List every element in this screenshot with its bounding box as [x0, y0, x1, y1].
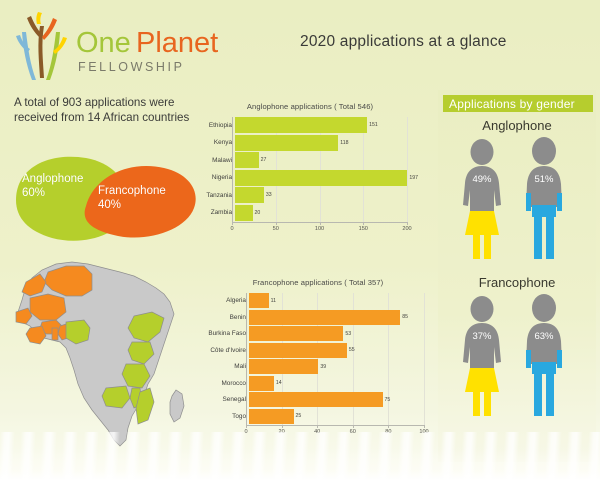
bar[interactable] [249, 376, 274, 391]
map-country-nigeria [66, 320, 90, 344]
gender-figures-anglophone: 49% 51% [438, 135, 596, 263]
x-axis-tick-label: 0 [230, 226, 233, 232]
bar-track: 53 [249, 326, 440, 341]
bar[interactable] [235, 152, 259, 168]
x-axis-line [246, 425, 424, 426]
gender-group-francophone: Francophone 37% [438, 275, 596, 420]
male-pct-anglophone: 51% [518, 174, 570, 185]
x-axis-tick-label: 200 [402, 226, 411, 232]
category-label: Burkina Faso [196, 330, 249, 337]
male-figure-francophone: 63% [518, 292, 570, 416]
x-axis-tick [232, 222, 233, 225]
gender-panel-header: Applications by gender [443, 95, 593, 112]
female-pct-anglophone: 49% [456, 174, 508, 185]
venn-anglophone-label: Anglophone 60% [22, 172, 83, 200]
africa-map [8, 250, 203, 465]
logo-tree-mark [16, 12, 67, 80]
bar-value-label: 151 [369, 122, 378, 128]
gender-group-francophone-label: Francophone [438, 275, 596, 290]
bar-row: Algeria11 [196, 293, 440, 308]
bar-value-label: 118 [340, 140, 348, 146]
map-country-cote-divoire [26, 326, 46, 344]
bar-value-label: 197 [409, 175, 418, 181]
bar[interactable] [235, 170, 407, 186]
svg-text:Planet: Planet [136, 27, 218, 59]
anglophone-x-axis: 050100150200 [232, 222, 407, 236]
bar-value-label: 75 [385, 397, 391, 403]
francophone-bar-rows: Algeria11Benin85Burkina Faso53Côte d'Ivo… [196, 293, 440, 425]
anglophone-plot-area: Ethiopia151Kenya118Malawi27Nigeria197Tan… [196, 117, 424, 236]
bar[interactable] [249, 326, 343, 341]
bar-track: 118 [235, 135, 424, 151]
gender-figures-francophone: 37% 63% [438, 292, 596, 420]
bar-track: 14 [249, 376, 440, 391]
bar[interactable] [249, 310, 400, 325]
bar-track: 27 [235, 152, 424, 168]
category-label: Mali [196, 363, 249, 370]
bar[interactable] [249, 359, 318, 374]
category-label: Tanzania [196, 192, 235, 199]
bar[interactable] [249, 343, 347, 358]
x-axis-tick [317, 425, 318, 428]
bar-value-label: 55 [349, 347, 355, 353]
bar-value-label: 14 [276, 380, 282, 386]
bar-row: Nigeria197 [196, 170, 424, 186]
bar-value-label: 20 [255, 210, 261, 216]
x-axis-tick [424, 425, 425, 428]
bar-row: Togo25 [196, 409, 440, 424]
bar-row: Ethiopia151 [196, 117, 424, 133]
bar-row: Senegal75 [196, 392, 440, 407]
bar-row: Tanzania33 [196, 187, 424, 203]
bar-row: Kenya118 [196, 135, 424, 151]
x-axis-tick [276, 222, 277, 225]
bar-row: Benin85 [196, 310, 440, 325]
female-pct-francophone: 37% [456, 331, 508, 342]
map-country-togo [52, 328, 58, 340]
bar[interactable] [249, 409, 294, 424]
bar-row: Morocco14 [196, 376, 440, 391]
intro-text: A total of 903 applications were receive… [14, 95, 194, 125]
category-label: Kenya [196, 139, 235, 146]
bar-row: Côte d'Ivoire55 [196, 343, 440, 358]
map-madagascar [170, 390, 184, 422]
bar-value-label: 27 [261, 157, 267, 163]
bar-track: 11 [249, 293, 440, 308]
bar-row: Zambia20 [196, 205, 424, 221]
bar-value-label: 33 [266, 192, 272, 198]
bar-value-label: 53 [345, 331, 351, 337]
bar-value-label: 11 [271, 298, 276, 304]
francophone-x-axis: 020406080100 [246, 425, 424, 439]
x-axis-tick [246, 425, 247, 428]
bar-value-label: 25 [296, 413, 302, 419]
bar-track: 39 [249, 359, 440, 374]
bar[interactable] [235, 117, 367, 133]
x-axis-tick [282, 425, 283, 428]
male-pct-francophone: 63% [518, 331, 570, 342]
venn-francophone-label: Francophone 40% [98, 184, 166, 212]
category-label: Zambia [196, 209, 235, 216]
infographic-canvas: One Planet FELLOWSHIP 2020 applications … [0, 0, 600, 480]
category-label: Senegal [196, 396, 249, 403]
francophone-applications-chart: Francophone applications ( Total 357) Al… [196, 278, 440, 439]
bar-track: 55 [249, 343, 440, 358]
category-label: Benin [196, 314, 249, 321]
x-axis-tick [353, 425, 354, 428]
category-label: Côte d'Ivoire [196, 347, 249, 354]
bar-row: Malawi27 [196, 152, 424, 168]
x-axis-tick-label: 0 [244, 429, 247, 435]
x-axis-tick-label: 150 [359, 226, 368, 232]
francophone-plot-area: Algeria11Benin85Burkina Faso53Côte d'Ivo… [196, 293, 440, 439]
bar[interactable] [249, 293, 269, 308]
bar-track: 75 [249, 392, 440, 407]
category-label: Ethiopia [196, 122, 235, 129]
bar-track: 197 [235, 170, 424, 186]
bar[interactable] [235, 205, 253, 221]
category-label: Nigeria [196, 174, 235, 181]
category-label: Togo [196, 413, 249, 420]
svg-text:One: One [76, 27, 131, 59]
bar-row: Burkina Faso53 [196, 326, 440, 341]
chart-title-francophone: Francophone applications ( Total 357) [196, 278, 440, 287]
x-axis-tick [320, 222, 321, 225]
bar-value-label: 39 [320, 364, 326, 370]
x-axis-tick-label: 20 [278, 429, 284, 435]
applications-by-gender-panel: Applications by gender Anglophone 49% [438, 90, 596, 462]
venn-anglophone-name: Anglophone [22, 172, 83, 186]
category-label: Morocco [196, 380, 249, 387]
oneplanet-fellowship-logo: One Planet FELLOWSHIP [10, 8, 235, 86]
female-figure-francophone: 37% [456, 292, 508, 416]
anglophone-bar-rows: Ethiopia151Kenya118Malawi27Nigeria197Tan… [196, 117, 424, 222]
x-axis-tick-label: 100 [315, 226, 324, 232]
svg-text:FELLOWSHIP: FELLOWSHIP [78, 60, 185, 74]
language-split-venn: Anglophone 60% Francophone 40% [8, 148, 208, 248]
chart-title-anglophone: Anglophone applications ( Total 546) [196, 102, 424, 111]
x-axis-tick-label: 60 [350, 429, 356, 435]
bar[interactable] [235, 135, 338, 151]
venn-francophone-name: Francophone [98, 184, 166, 198]
x-axis-tick [363, 222, 364, 225]
category-label: Algeria [196, 297, 249, 304]
bar[interactable] [235, 187, 264, 203]
bar-track: 20 [235, 205, 424, 221]
x-axis-tick-label: 40 [314, 429, 320, 435]
venn-anglophone-pct: 60% [22, 186, 83, 200]
anglophone-applications-chart: Anglophone applications ( Total 546) Eth… [196, 102, 424, 236]
x-axis-tick [407, 222, 408, 225]
x-axis-tick [388, 425, 389, 428]
female-figure-anglophone: 49% [456, 135, 508, 259]
bar-track: 151 [235, 117, 424, 133]
map-country-mali [30, 294, 66, 320]
x-axis-tick-label: 50 [273, 226, 279, 232]
bar-row: Mali39 [196, 359, 440, 374]
x-axis-tick-label: 80 [385, 429, 391, 435]
bar-track: 25 [249, 409, 440, 424]
gender-group-anglophone: Anglophone 49% [438, 118, 596, 263]
venn-francophone-pct: 40% [98, 198, 166, 212]
bar-track: 85 [249, 310, 440, 325]
bar-value-label: 85 [402, 314, 408, 320]
bar[interactable] [249, 392, 383, 407]
bar-track: 33 [235, 187, 424, 203]
category-label: Malawi [196, 157, 235, 164]
x-axis-tick-label: 100 [419, 429, 428, 435]
gender-group-anglophone-label: Anglophone [438, 118, 596, 133]
page-title: 2020 applications at a glance [300, 33, 570, 51]
male-figure-anglophone: 51% [518, 135, 570, 259]
